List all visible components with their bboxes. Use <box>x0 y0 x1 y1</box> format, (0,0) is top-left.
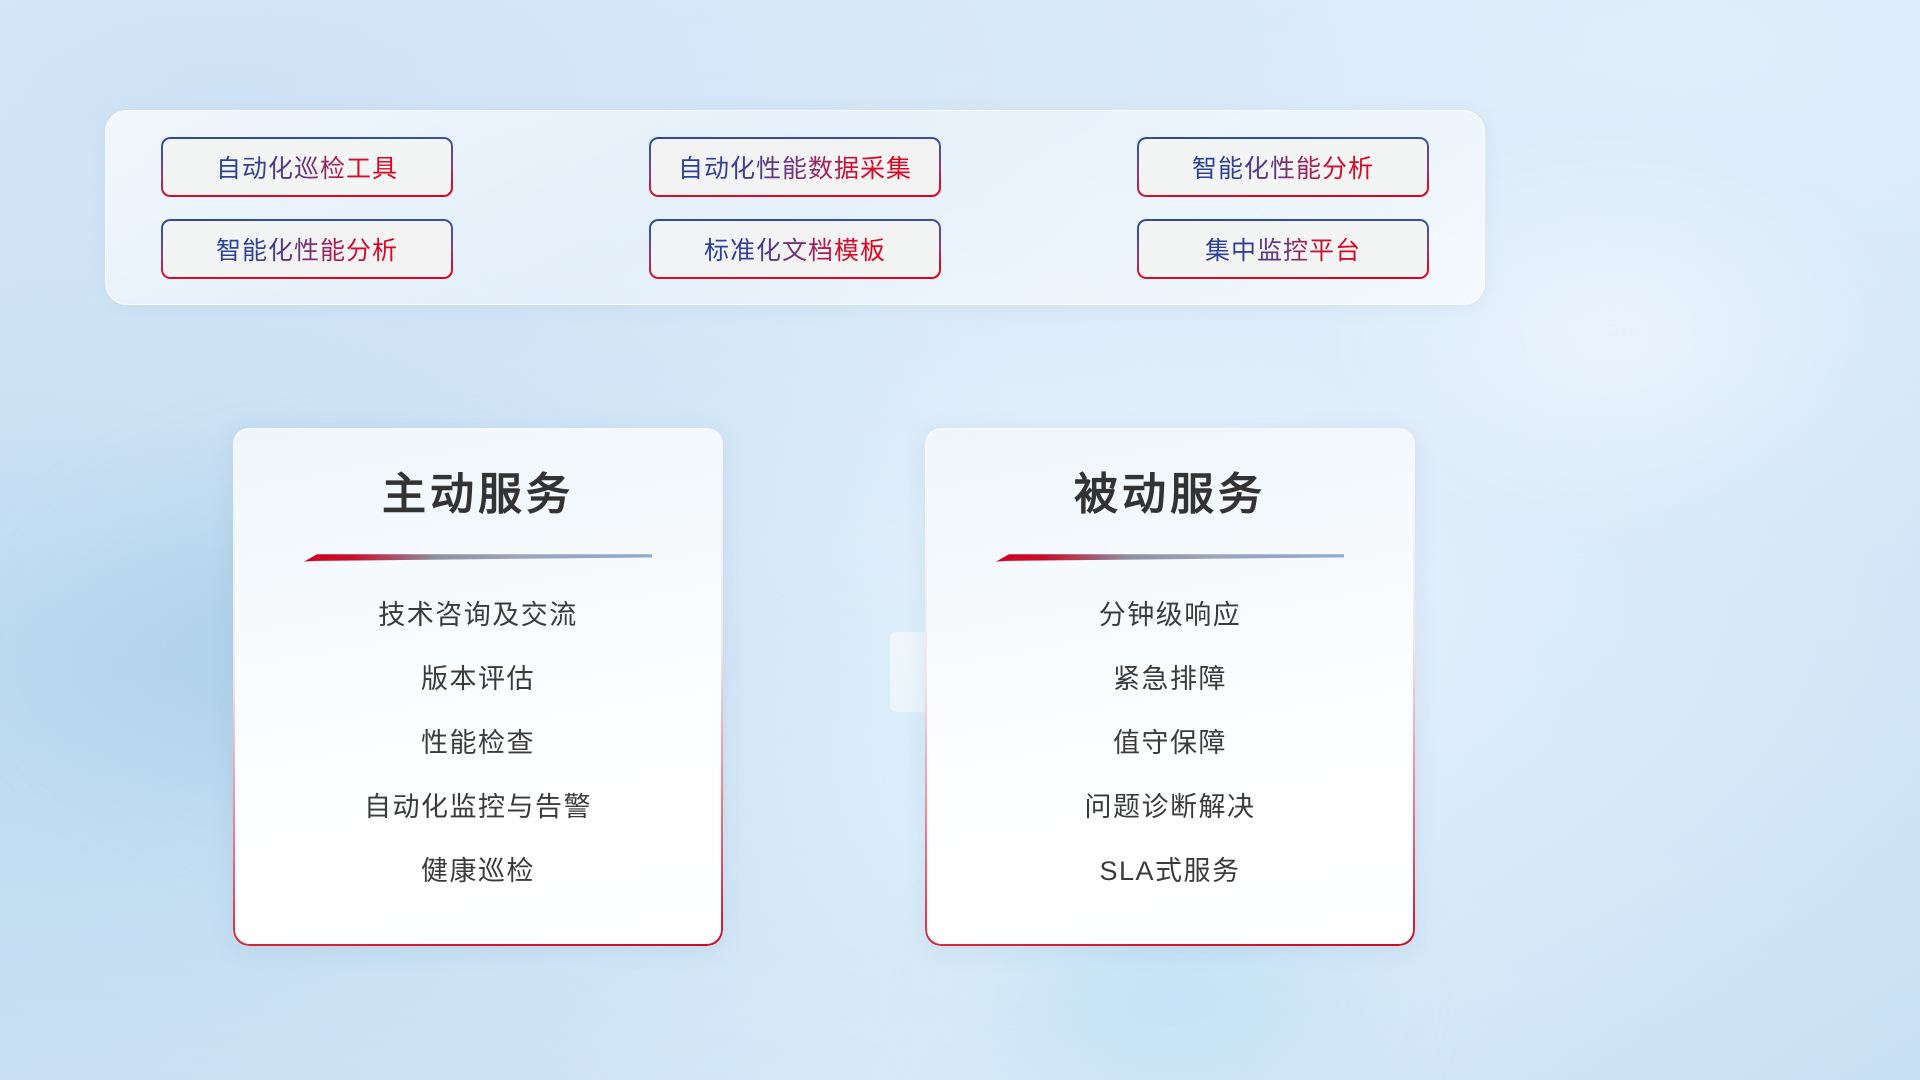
service-item: 分钟级响应 <box>1099 593 1242 632</box>
service-card-active: 主动服务 技术咨询及交流 版本评估 性能检查 自动化监控与告警 健康巡检 <box>233 428 723 946</box>
capability-pill-label: 标准化文档模板 <box>704 231 886 267</box>
capabilities-row-1: 自动化巡检工具 自动化性能数据采集 智能化性能分析 <box>161 137 1429 197</box>
service-item: 性能检查 <box>421 721 535 760</box>
capability-pill-automated-performance-data-collection[interactable]: 自动化性能数据采集 <box>649 137 941 197</box>
service-item: 问题诊断解决 <box>1085 785 1256 824</box>
service-card-divider <box>304 550 652 563</box>
service-item: 自动化监控与告警 <box>364 785 592 824</box>
service-card-title: 被动服务 <box>925 458 1415 522</box>
service-item: 健康巡检 <box>421 849 535 888</box>
service-card-title: 主动服务 <box>233 458 723 522</box>
service-item: 值守保障 <box>1113 721 1227 760</box>
service-card-divider <box>996 550 1344 563</box>
capabilities-panel: 自动化巡检工具 自动化性能数据采集 智能化性能分析 智能化性能分析 标准化文档模… <box>105 110 1485 305</box>
service-item: 版本评估 <box>421 657 535 696</box>
capability-pill-label: 自动化巡检工具 <box>216 149 398 185</box>
service-item: 紧急排障 <box>1113 657 1227 696</box>
service-item: 技术咨询及交流 <box>378 593 578 632</box>
capability-pill-label: 智能化性能分析 <box>216 231 398 267</box>
capability-pill-standardized-document-template[interactable]: 标准化文档模板 <box>649 219 941 279</box>
capability-pill-centralized-monitoring-platform[interactable]: 集中监控平台 <box>1137 219 1429 279</box>
capability-pill-intelligent-performance-analysis[interactable]: 智能化性能分析 <box>1137 137 1429 197</box>
capability-pill-label: 自动化性能数据采集 <box>678 149 912 185</box>
service-card-passive: 被动服务 分钟级响应 紧急排障 值守保障 问题诊断解决 SLA式服务 <box>925 428 1415 946</box>
service-card-item-list: 分钟级响应 紧急排障 值守保障 问题诊断解决 SLA式服务 <box>925 593 1415 888</box>
capability-pill-label: 集中监控平台 <box>1205 231 1361 267</box>
capability-pill-automated-inspection-tool[interactable]: 自动化巡检工具 <box>161 137 453 197</box>
capabilities-row-2: 智能化性能分析 标准化文档模板 集中监控平台 <box>161 219 1429 279</box>
service-item: SLA式服务 <box>1099 849 1240 888</box>
capability-pill-label: 智能化性能分析 <box>1192 149 1374 185</box>
capability-pill-intelligent-performance-analysis-2[interactable]: 智能化性能分析 <box>161 219 453 279</box>
service-card-item-list: 技术咨询及交流 版本评估 性能检查 自动化监控与告警 健康巡检 <box>233 593 723 888</box>
